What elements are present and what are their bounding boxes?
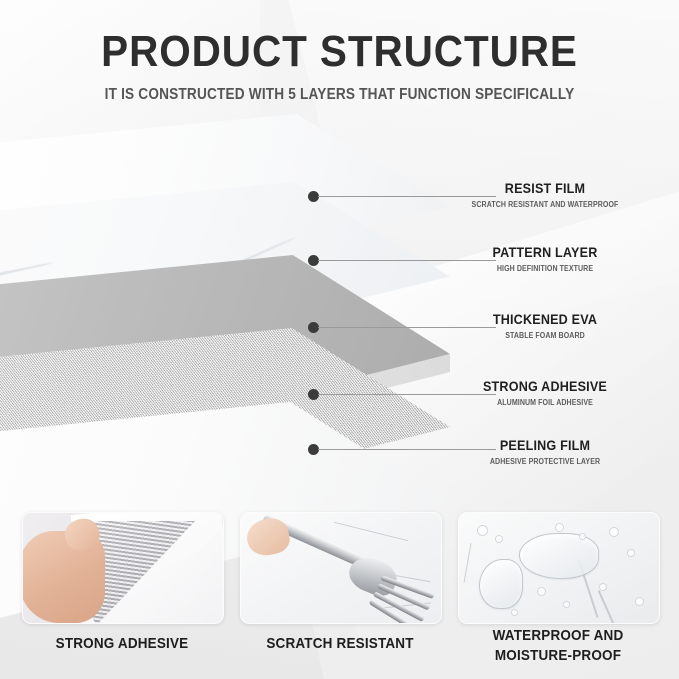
feature-caption-scratch-resistant: SCRATCH RESISTANT xyxy=(243,634,437,654)
layer-description: HIGH DEFINITION TEXTURE xyxy=(453,264,638,273)
callout-label-peeling-film: PEELING FILM ADHESIVE PROTECTIVE LAYER xyxy=(440,437,650,466)
feature-card-waterproof xyxy=(458,512,660,624)
layer-name: THICKENED EVA xyxy=(451,311,640,327)
photo-fork-scratch-test xyxy=(241,513,441,623)
water-bead xyxy=(555,523,564,532)
page-title: PRODUCT STRUCTURE xyxy=(27,30,652,74)
water-bead xyxy=(635,597,644,606)
layer-name: STRONG ADHESIVE xyxy=(451,378,640,394)
photo-hand-peeling-foil xyxy=(23,513,223,623)
layer-description: ALUMINUM FOIL ADHESIVE xyxy=(453,398,638,407)
water-bead xyxy=(537,587,546,596)
feature-cards: STRONG ADHESIVE SCRATCH RESISTANT WATERP… xyxy=(0,508,679,679)
layer-description: ADHESIVE PROTECTIVE LAYER xyxy=(453,457,638,466)
page-subtitle: IT IS CONSTRUCTED WITH 5 LAYERS THAT FUN… xyxy=(41,86,639,104)
layer-name: PEELING FILM xyxy=(451,437,640,453)
water-bead xyxy=(599,583,607,591)
water-bead xyxy=(579,533,586,540)
water-bead xyxy=(511,609,518,616)
callout-label-pattern-layer: PATTERN LAYER HIGH DEFINITION TEXTURE xyxy=(440,244,650,273)
scratch-mark xyxy=(334,522,408,541)
callout-label-thickened-eva: THICKENED EVA STABLE FOAM BOARD xyxy=(440,311,650,340)
water-bead xyxy=(495,535,503,543)
water-droplet-small xyxy=(479,559,523,609)
layer-stack-diagram xyxy=(0,120,470,520)
water-bead xyxy=(609,527,619,537)
water-bead xyxy=(563,601,570,608)
feature-caption-strong-adhesive: STRONG ADHESIVE xyxy=(25,634,219,654)
callout-label-resist-film: RESIST FILM SCRATCH RESISTANT AND WATERP… xyxy=(440,180,650,209)
photo-water-droplets xyxy=(459,513,659,623)
callout-label-strong-adhesive: STRONG ADHESIVE ALUMINUM FOIL ADHESIVE xyxy=(440,378,650,407)
feature-caption-waterproof: WATERPROOF AND MOISTURE-PROOF xyxy=(461,626,655,667)
feature-card-scratch-resistant xyxy=(240,512,442,624)
layer-description: SCRATCH RESISTANT AND WATERPROOF xyxy=(453,200,638,209)
header: PRODUCT STRUCTURE IT IS CONSTRUCTED WITH… xyxy=(0,0,679,104)
water-bead xyxy=(477,525,488,536)
layer-name: RESIST FILM xyxy=(451,180,640,196)
water-bead xyxy=(627,549,635,557)
feature-card-strong-adhesive xyxy=(22,512,224,624)
water-droplet-large xyxy=(519,533,599,579)
marble-vein xyxy=(464,543,472,583)
marble-vein xyxy=(598,590,614,624)
layer-description: STABLE FOAM BOARD xyxy=(453,331,638,340)
product-structure-infographic: PRODUCT STRUCTURE IT IS CONSTRUCTED WITH… xyxy=(0,0,679,679)
layer-name: PATTERN LAYER xyxy=(451,244,640,260)
